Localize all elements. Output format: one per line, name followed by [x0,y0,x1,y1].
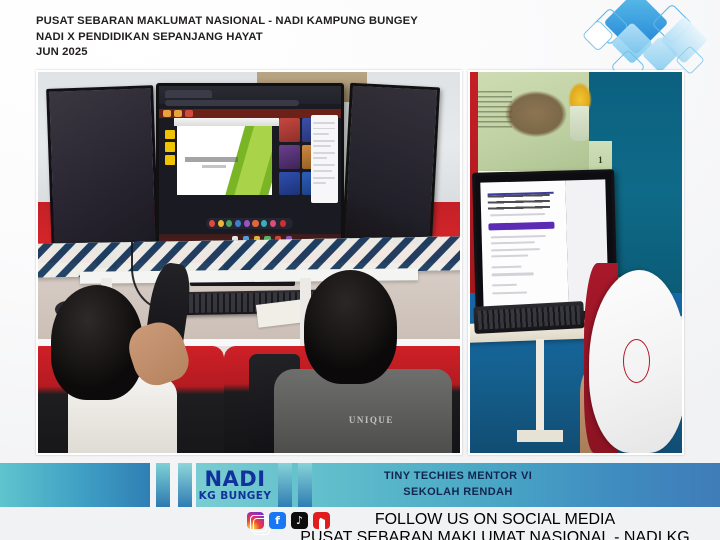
footer-accent-bar-1 [0,463,150,507]
quiz-screen [481,181,568,313]
footer-title-line-1: TINY TECHIES MENTOR VI [196,470,720,482]
meeting-screen [159,86,340,246]
page-title: PUSAT SEBARAN MAKLUMAT NASIONAL - NADI K… [36,14,418,61]
footer-accent-bar-4 [278,463,292,507]
monitor-left [46,85,159,255]
monitor-center [156,83,343,249]
shirt-text: UNIQUE [317,415,427,434]
follow-us-text: FOLLOW US ON SOCIAL MEDIA PUSAT SEBARAN … [270,511,720,540]
nadi-logo: NADI KG BUNGEY [196,463,274,507]
photo-right: 1 [468,70,684,455]
photo-left: UNIQUE [36,70,462,455]
footer-accent-bar-3 [178,463,192,507]
follow-line-2: PUSAT SEBARAN MAKLUMAT NASIONAL - NADI K… [270,529,720,540]
slide-canvas: PUSAT SEBARAN MAKLUMAT NASIONAL - NADI K… [0,0,720,540]
footer-accent-bar-2 [156,463,170,507]
footer-bar: TINY TECHIES MENTOR VI SEKOLAH RENDAH NA… [0,458,720,540]
title-line-3: JUN 2025 [36,45,418,61]
monitor-right [342,83,441,246]
title-line-2: NADI X PENDIDIKAN SEPANJANG HAYAT [36,30,418,46]
footer-accent-bar-5 [298,463,312,507]
logo-text-branch: KG BUNGEY [199,491,272,502]
title-line-1: PUSAT SEBARAN MAKLUMAT NASIONAL - NADI K… [36,14,418,30]
footer-title-line-2: SEKOLAH RENDAH [196,486,720,498]
photo-collage: UNIQUE 1 [36,70,684,455]
instagram-icon[interactable] [247,512,264,529]
footer-title-bar: TINY TECHIES MENTOR VI SEKOLAH RENDAH [196,463,720,507]
student-right [304,270,397,384]
follow-line-1: FOLLOW US ON SOCIAL MEDIA [270,511,720,529]
logo-text-nadi: NADI [204,469,265,490]
